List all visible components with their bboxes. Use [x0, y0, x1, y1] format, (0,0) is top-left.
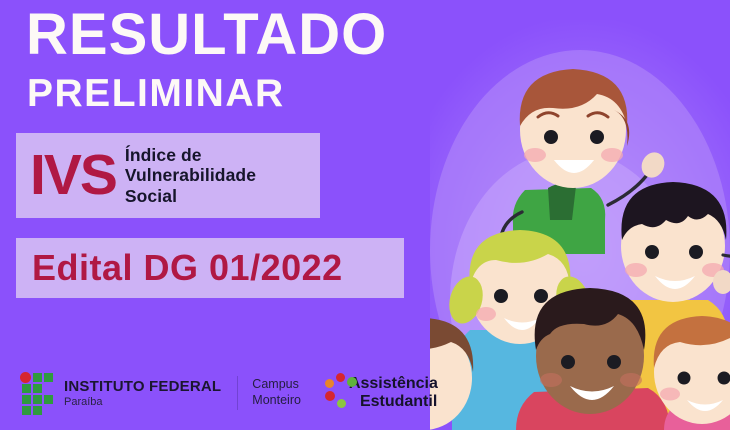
ivs-abbreviation: IVS	[30, 147, 116, 204]
poster-canvas: RESULTADO PRELIMINAR IVS Índice de Vulne…	[0, 0, 730, 430]
headline-block: RESULTADO PRELIMINAR	[26, 6, 387, 113]
group-of-children-illustration	[430, 0, 730, 430]
ivs-band: IVS Índice de Vulnerabilidade Social	[16, 133, 320, 218]
headline-main: RESULTADO	[26, 6, 387, 64]
ivs-expansion: Índice de Vulnerabilidade Social	[125, 145, 256, 206]
assistencia-estudantil-dots-logo-icon	[325, 373, 351, 413]
assistencia-estudantil-logo: Assistência Estudantil	[325, 373, 438, 413]
ivs-expansion-line-3: Social	[125, 186, 256, 206]
instituto-federal-grid-logo-icon	[20, 372, 56, 414]
footer-divider	[237, 376, 238, 410]
instituto-federal-wordmark: INSTITUTO FEDERAL Paraíba	[64, 379, 221, 408]
edital-band: Edital DG 01/2022	[16, 238, 404, 298]
instituto-federal-subtitle: Paraíba	[64, 397, 221, 408]
campus-label: Campus Monteiro	[252, 377, 301, 408]
headline-sub: PRELIMINAR	[27, 74, 387, 113]
instituto-federal-title: INSTITUTO FEDERAL	[64, 379, 221, 394]
footer-logos: INSTITUTO FEDERAL Paraíba Campus Monteir…	[20, 372, 438, 414]
assistencia-estudantil-wordmark: Assistência Estudantil	[349, 376, 438, 411]
campus-line-2: Monteiro	[252, 393, 301, 409]
ivs-expansion-line-2: Vulnerabilidade	[125, 165, 256, 185]
instituto-federal-logo: INSTITUTO FEDERAL Paraíba	[20, 372, 221, 414]
ivs-expansion-line-1: Índice de	[125, 145, 256, 165]
campus-line-1: Campus	[252, 377, 301, 393]
edital-text: Edital DG 01/2022	[32, 250, 343, 286]
assistencia-line-2: Estudantil	[360, 394, 438, 411]
assistencia-line-1: Assistência	[349, 376, 438, 393]
